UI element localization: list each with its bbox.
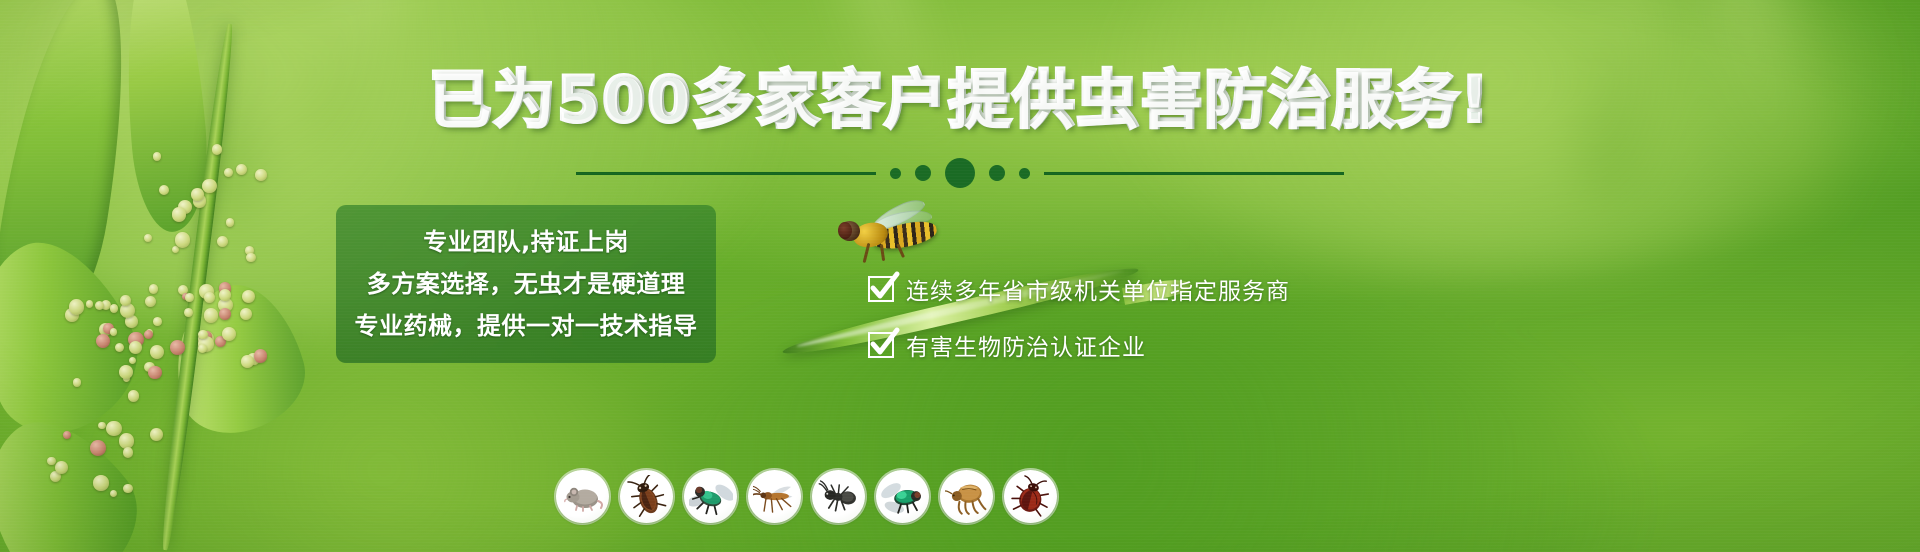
seed-bud — [240, 308, 252, 320]
divider-rule-left — [576, 172, 876, 175]
seed-bud — [119, 365, 133, 379]
seed-head-cluster — [46, 287, 173, 508]
checkbox-checked-icon — [868, 332, 894, 358]
seed-bud — [241, 355, 254, 368]
seed-bud — [110, 328, 118, 336]
seed-bud — [86, 300, 94, 308]
service-point-3: 专业药械，提供一对一技术指导 — [336, 305, 716, 347]
seed-bud — [115, 343, 124, 352]
seed-bud — [198, 330, 207, 339]
service-point-2: 多方案选择，无虫才是硬道理 — [336, 263, 716, 305]
divider-dot-large — [945, 158, 975, 188]
seed-bud — [90, 440, 106, 456]
seed-bud — [69, 299, 84, 314]
seed-bud — [148, 366, 161, 379]
mouse-icon[interactable] — [556, 470, 609, 523]
seed-bud — [172, 207, 187, 222]
seed-bud — [191, 188, 203, 200]
seed-bud — [255, 169, 267, 181]
seed-bud — [129, 341, 143, 355]
banner-headline-text: 已为500多家客户提供虫害防治服务! — [429, 63, 1491, 136]
seed-bud — [185, 293, 194, 302]
housefly-icon[interactable] — [684, 470, 737, 523]
divider-dot-small — [890, 168, 901, 179]
seed-bud — [96, 334, 110, 348]
seed-bud — [106, 421, 121, 436]
seed-bud — [204, 308, 218, 322]
seed-bud — [123, 447, 133, 457]
seed-bud — [217, 236, 228, 247]
seed-bud — [242, 290, 255, 303]
seed-bud — [246, 253, 255, 262]
service-point-1: 专业团队,持证上岗 — [336, 221, 716, 263]
seed-bud — [73, 378, 82, 387]
seed-bud — [129, 357, 137, 365]
flea-icon[interactable] — [940, 470, 993, 523]
seed-bud — [150, 345, 164, 359]
seed-bud — [219, 289, 231, 301]
seed-bud — [254, 349, 267, 362]
seed-bud — [159, 185, 169, 195]
divider-dot-small — [1019, 168, 1030, 179]
seed-bud — [128, 390, 139, 401]
seed-bud — [212, 144, 223, 155]
pest-control-hero-banner: 已为500多家客户提供虫害防治服务! 专业团队,持证上岗 多方案选择，无虫才是硬… — [0, 0, 1920, 552]
divider-rule-right — [1044, 172, 1344, 175]
seed-bud — [55, 461, 68, 474]
seed-bud — [110, 304, 119, 313]
seed-bud — [98, 422, 106, 430]
seed-bud — [202, 179, 216, 193]
divider-dot-medium — [989, 165, 1005, 181]
seed-bud — [222, 327, 236, 341]
list-item: 连续多年省市级机关单位指定服务商 — [868, 272, 1290, 306]
credentials-checklist: 连续多年省市级机关单位指定服务商 有害生物防治认证企业 — [868, 272, 1290, 362]
seed-bud — [95, 301, 104, 310]
seed-bud — [236, 164, 247, 175]
divider-dot-medium — [915, 165, 931, 181]
seed-bud — [63, 431, 71, 439]
seed-bud — [204, 292, 215, 303]
seed-bud — [144, 330, 153, 339]
seed-bud — [175, 232, 191, 248]
mosquito-icon[interactable] — [748, 470, 801, 523]
list-item: 有害生物防治认证企业 — [868, 328, 1290, 362]
blowfly-icon[interactable] — [876, 470, 929, 523]
seed-bud — [150, 428, 163, 441]
hoverfly-icon — [837, 201, 952, 267]
credential-label: 有害生物防治认证企业 — [906, 328, 1146, 362]
seed-bud — [219, 308, 231, 320]
seed-bud — [123, 484, 132, 493]
seed-bud — [110, 490, 117, 497]
seed-bud — [144, 234, 152, 242]
decorative-divider — [576, 158, 1344, 188]
seed-bud — [120, 295, 131, 306]
seed-bud — [184, 308, 193, 317]
seed-bud — [198, 344, 207, 353]
ant-icon[interactable] — [812, 470, 865, 523]
seed-bud — [93, 475, 109, 491]
credential-label: 连续多年省市级机关单位指定服务商 — [906, 272, 1290, 306]
service-points-panel: 专业团队,持证上岗 多方案选择，无虫才是硬道理 专业药械，提供一对一技术指导 — [336, 205, 716, 363]
seed-bud — [153, 152, 161, 160]
pest-type-icon-row — [556, 470, 1057, 523]
banner-headline: 已为500多家客户提供虫害防治服务! — [0, 66, 1920, 134]
cockroach-icon[interactable] — [620, 470, 673, 523]
seed-bud — [145, 296, 156, 307]
checkbox-checked-icon — [868, 276, 894, 302]
seed-bud — [119, 433, 134, 448]
seed-bud — [226, 218, 235, 227]
bedbug-icon[interactable] — [1004, 470, 1057, 523]
seed-bud — [224, 168, 233, 177]
